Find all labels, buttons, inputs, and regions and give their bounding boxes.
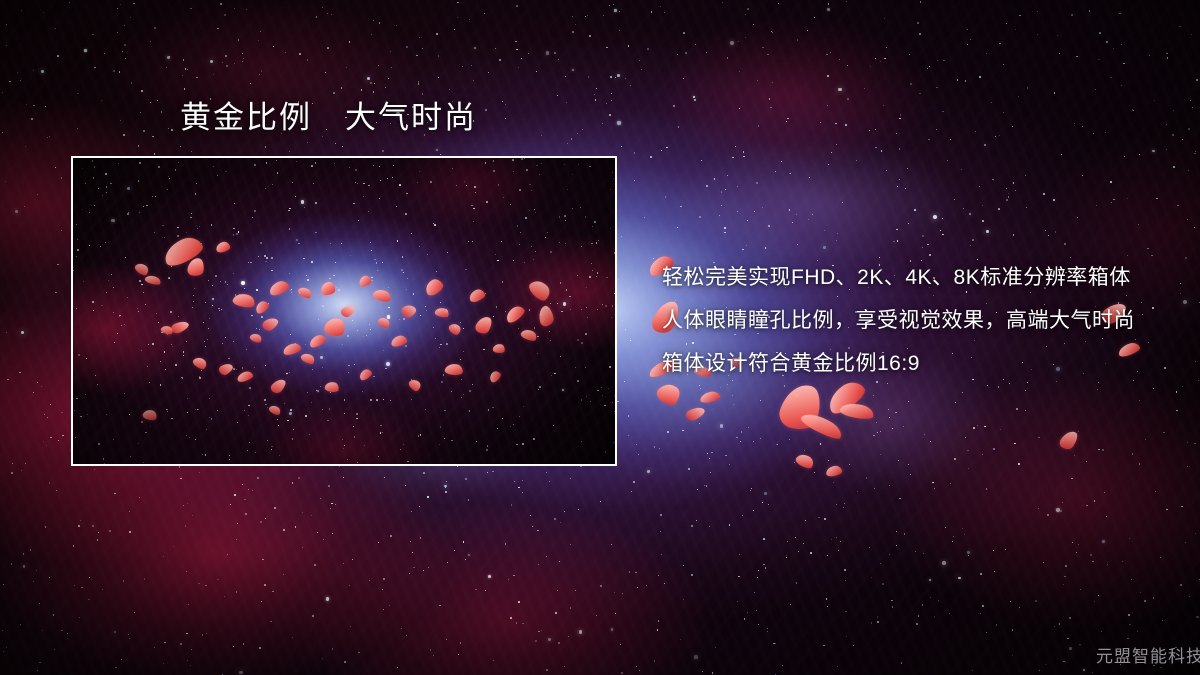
petal <box>839 401 875 422</box>
nebula-photo-frame <box>71 156 617 466</box>
body-copy: 轻松完美实现FHD、2K、4K、8K标准分辨率箱体 人体眼睛瞳孔比例，享受视觉效… <box>662 256 1162 385</box>
petal <box>776 379 826 434</box>
watermark: 元盟智能科技 <box>1096 642 1200 667</box>
petal <box>1057 428 1080 452</box>
petal <box>685 404 707 422</box>
body-copy-line-1: 轻松完美实现FHD、2K、4K、8K标准分辨率箱体 <box>662 256 1162 299</box>
nebula-photo-inner <box>73 158 615 464</box>
petal <box>825 465 842 477</box>
body-copy-line-3: 箱体设计符合黄金比例16:9 <box>662 342 1162 385</box>
page-title: 黄金比例 大气时尚 <box>180 101 477 136</box>
nebula-photo-vignette <box>73 158 615 464</box>
petal <box>799 409 845 443</box>
body-copy-line-2: 人体眼睛瞳孔比例，享受视觉效果，高端大气时尚 <box>662 299 1162 342</box>
presentation-slide: 黄金比例 大气时尚 轻松完美实现FHD、2K、4K、8K标准分辨率箱体 人体眼睛… <box>0 0 1200 675</box>
petal <box>699 390 720 403</box>
petal <box>794 451 816 470</box>
